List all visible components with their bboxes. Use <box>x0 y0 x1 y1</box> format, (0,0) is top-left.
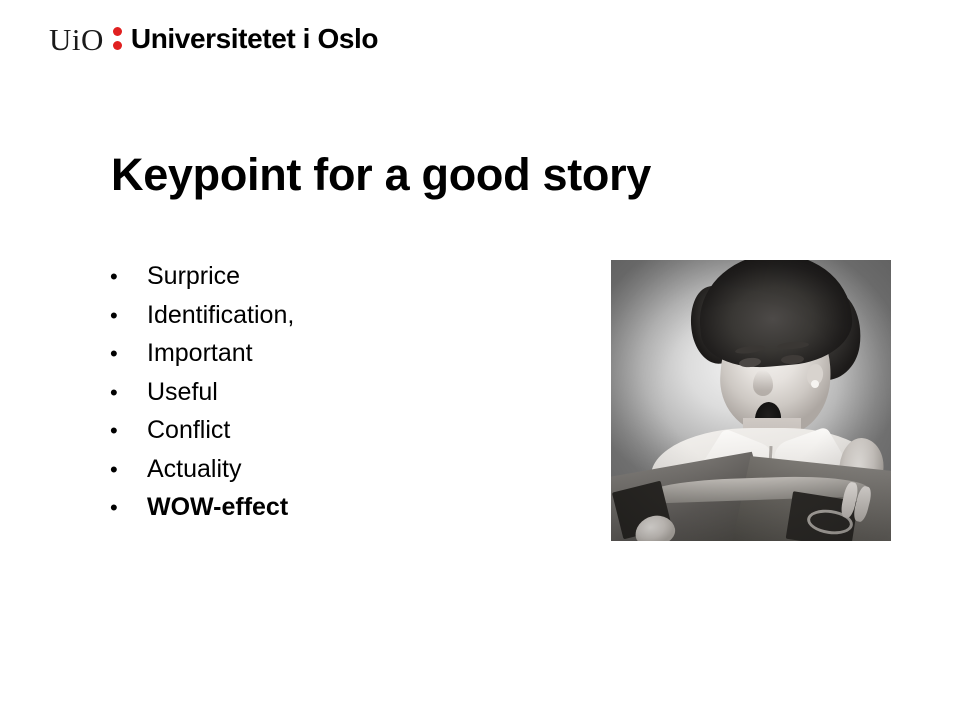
photo-backdrop <box>611 260 891 541</box>
bullet-icon: • <box>110 456 147 484</box>
red-dot-lower-icon <box>113 41 122 50</box>
page-title: Keypoint for a good story <box>111 150 651 200</box>
bullet-icon: • <box>110 379 147 407</box>
bullet-icon: • <box>110 263 147 291</box>
list-item-label: Useful <box>147 378 540 406</box>
list-item: • WOW-effect <box>110 493 540 532</box>
bullet-icon: • <box>110 302 147 330</box>
slide-canvas: UiO Universitetet i Oslo Keypoint for a … <box>0 0 960 720</box>
list-item-label: Conflict <box>147 416 540 444</box>
list-item: • Actuality <box>110 455 540 494</box>
list-item: • Conflict <box>110 416 540 455</box>
uio-logo: UiO Universitetet i Oslo <box>49 21 378 57</box>
list-item: • Identification, <box>110 301 540 340</box>
two-red-dots-icon <box>113 27 122 51</box>
list-item: • Useful <box>110 378 540 417</box>
surprised-woman-reading-newspaper-photo <box>611 260 891 541</box>
list-item: • Important <box>110 339 540 378</box>
red-dot-upper-icon <box>113 27 122 36</box>
list-item-label: WOW-effect <box>147 493 540 521</box>
bullet-icon: • <box>110 417 147 445</box>
keypoint-bullet-list: • Surprice • Identification, • Important… <box>110 262 540 532</box>
bullet-icon: • <box>110 340 147 368</box>
list-item-label: Important <box>147 339 540 367</box>
uio-logo-abbreviation: UiO <box>49 24 104 55</box>
list-item-label: Actuality <box>147 455 540 483</box>
bullet-icon: • <box>110 494 147 522</box>
uio-logo-institution: Universitetet i Oslo <box>131 25 378 53</box>
photo-vignette <box>611 260 891 541</box>
list-item: • Surprice <box>110 262 540 301</box>
list-item-label: Identification, <box>147 301 540 329</box>
list-item-label: Surprice <box>147 262 540 290</box>
